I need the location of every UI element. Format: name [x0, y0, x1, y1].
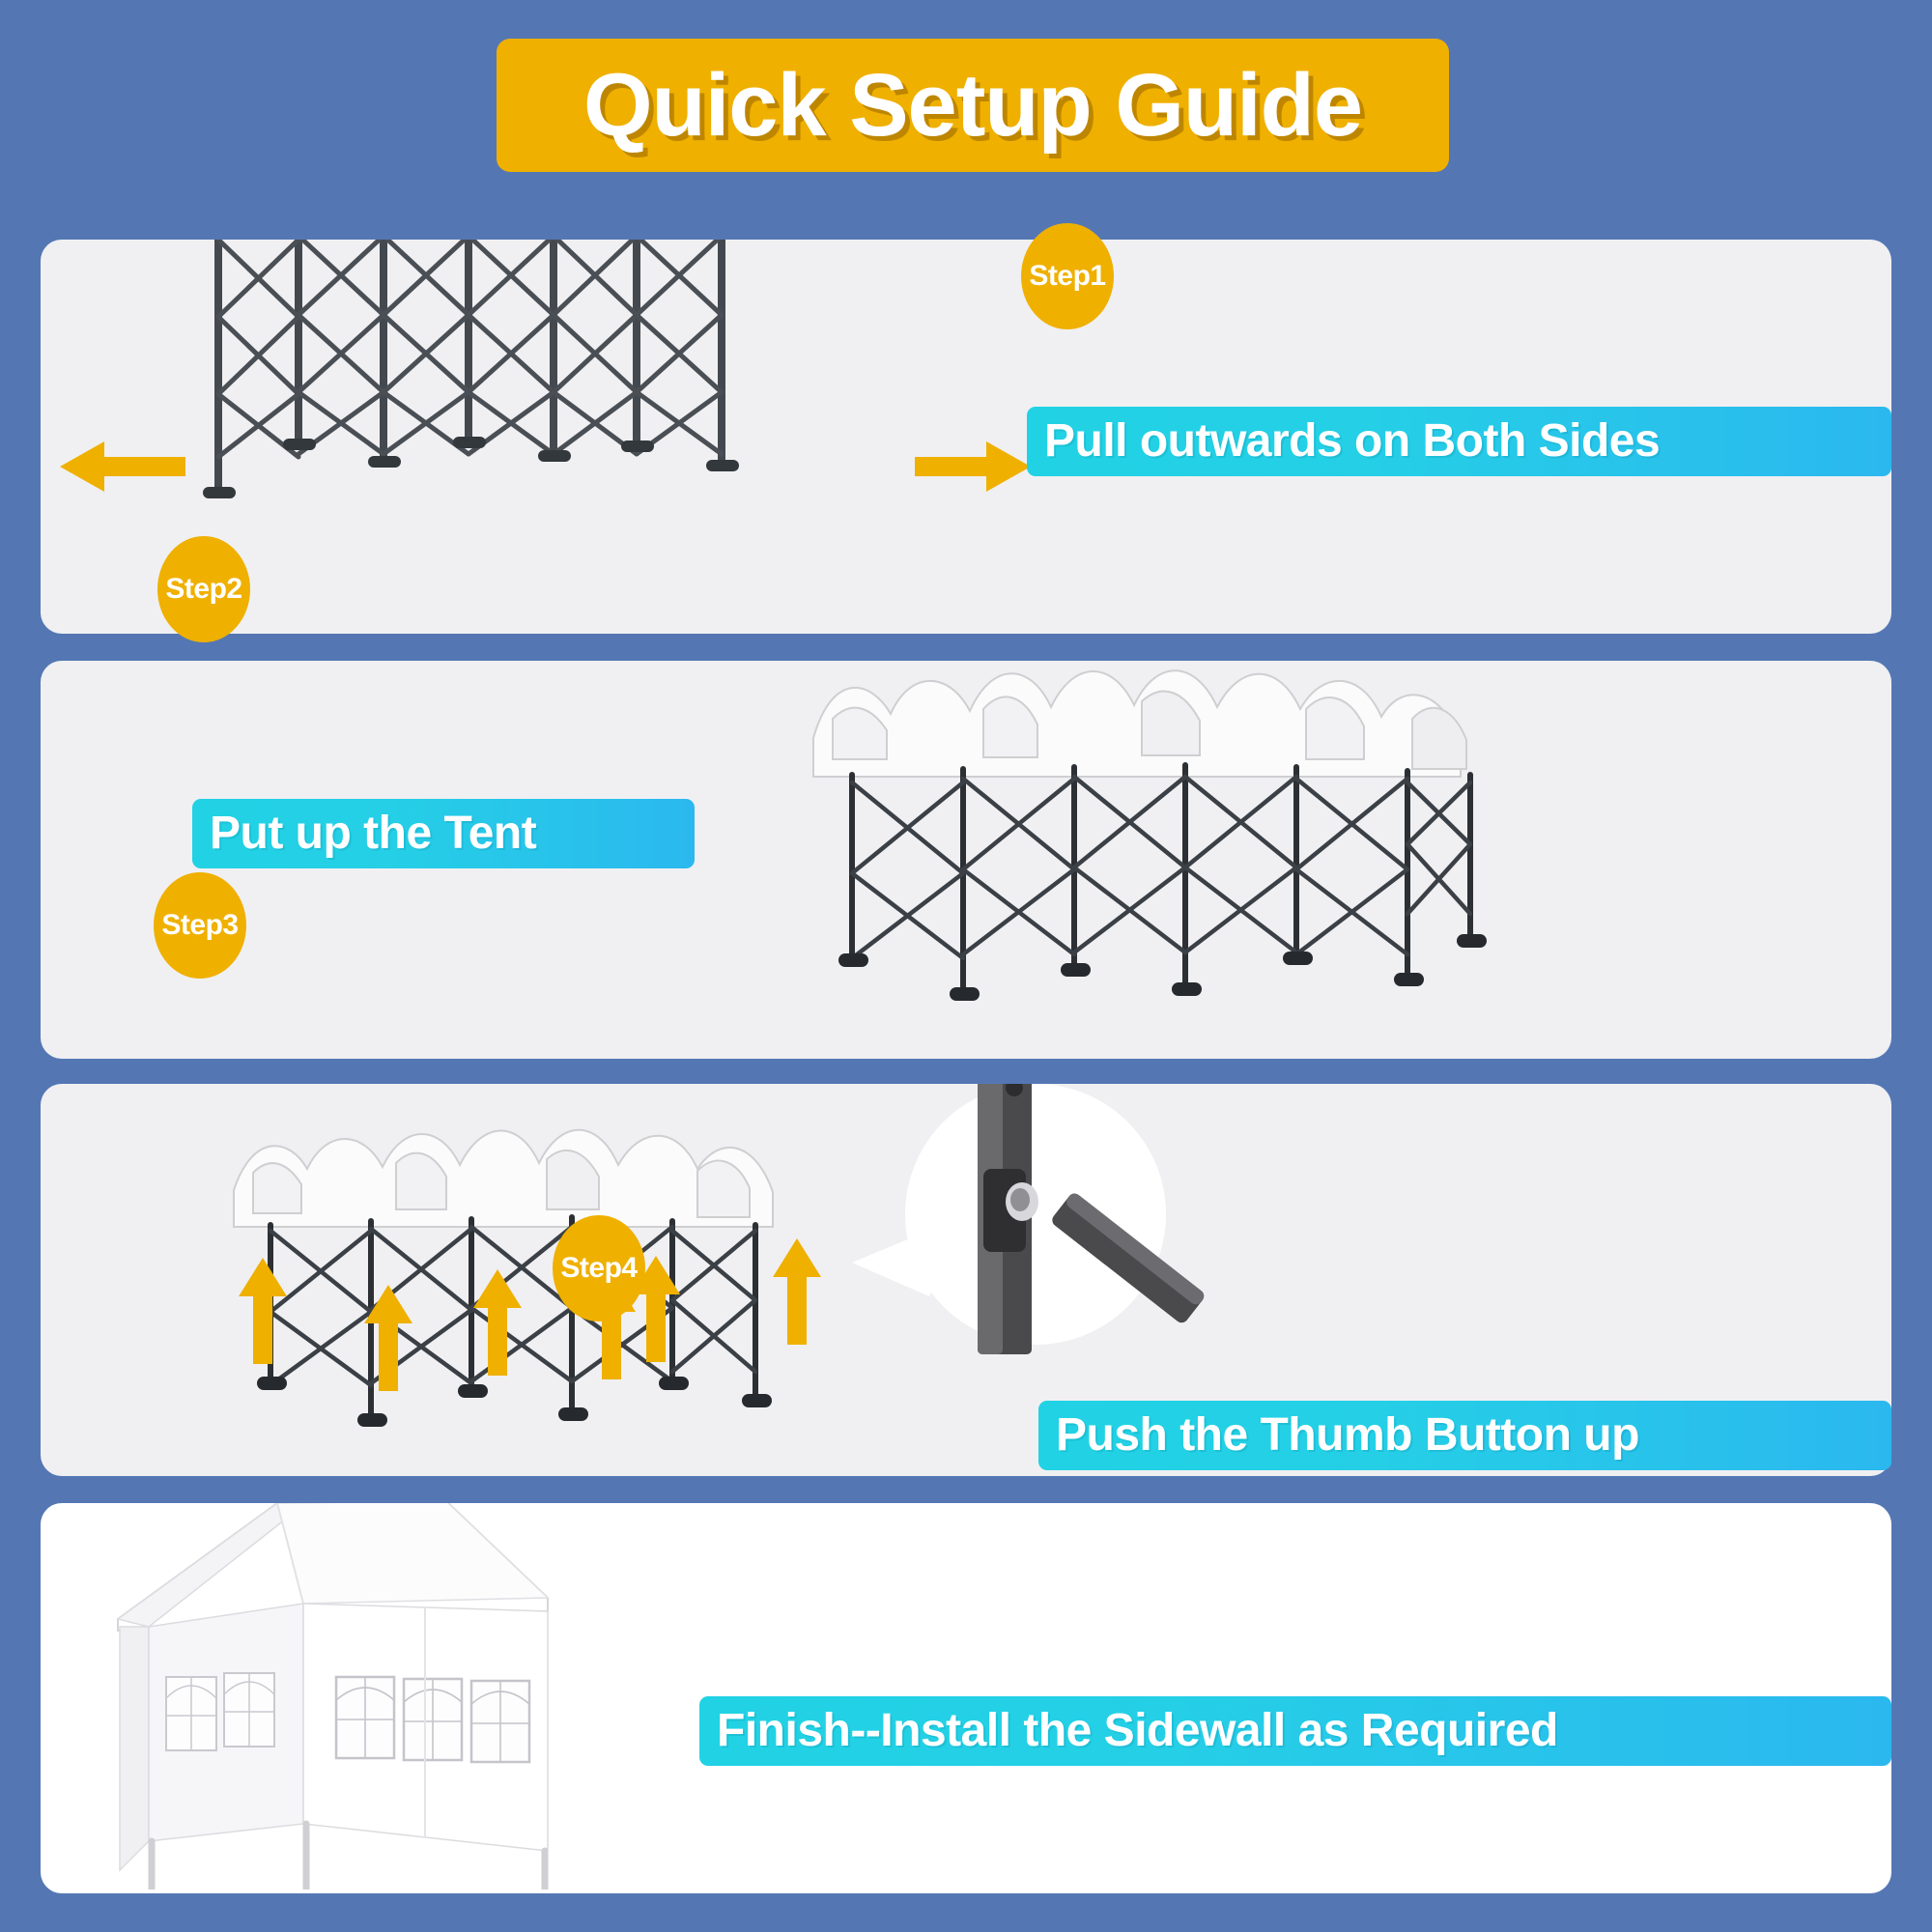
step-label-3: Push the Thumb Button up: [1056, 1412, 1639, 1459]
step-badge-2-label: Step2: [165, 573, 241, 606]
step-label-bar-1: Pull outwards on Both Sides: [1027, 407, 1891, 476]
arrow-up-icon: [239, 1258, 287, 1364]
step-badge-3-label: Step3: [161, 909, 238, 942]
step-label-bar-3: Push the Thumb Button up: [1038, 1401, 1891, 1470]
thumb-button-callout: [794, 1084, 1219, 1403]
step-badge-2: Step2: [157, 536, 250, 642]
step-badge-4-label: Step4: [560, 1252, 637, 1285]
folded-canopy-frame-illustration: [137, 240, 833, 520]
page-title: Quick Setup Guide: [583, 61, 1362, 150]
arrow-left-icon: [60, 438, 185, 496]
finished-canopy-illustration: [60, 1503, 697, 1889]
arrow-right-icon: [915, 438, 1031, 496]
step-label-bar-4: Finish--Install the Sidewall as Required: [699, 1696, 1891, 1766]
step-label-4: Finish--Install the Sidewall as Required: [717, 1708, 1558, 1754]
step-label-1: Pull outwards on Both Sides: [1044, 418, 1660, 465]
step-label-bar-2: Put up the Tent: [192, 799, 695, 868]
step-badge-1: Step1: [1021, 223, 1114, 329]
arrow-up-icon: [364, 1285, 412, 1391]
step-badge-1-label: Step1: [1029, 260, 1105, 293]
step-badge-3: Step3: [154, 872, 246, 979]
title-banner: Quick Setup Guide: [497, 39, 1449, 172]
arrow-up-icon: [473, 1269, 522, 1376]
step-label-2: Put up the Tent: [210, 810, 536, 857]
canopy-frame-with-loose-cover-illustration: [794, 661, 1586, 1057]
step-badge-4: Step4: [553, 1215, 645, 1321]
